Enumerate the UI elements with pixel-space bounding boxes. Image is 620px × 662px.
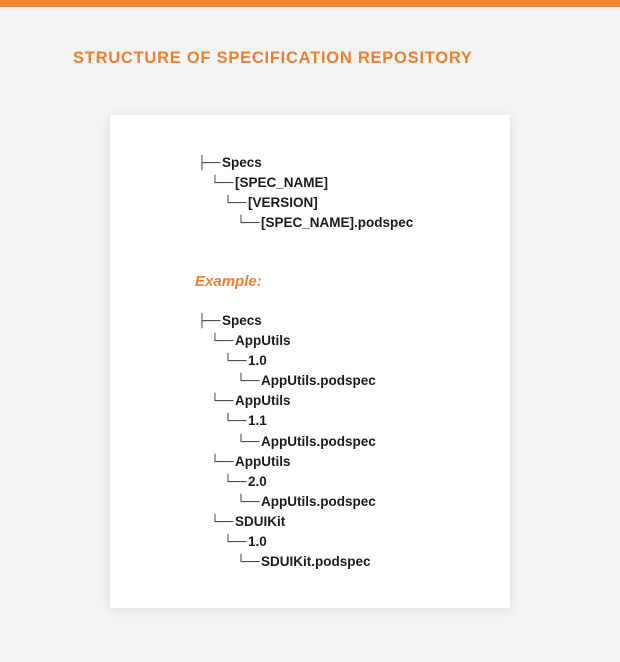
tree-node-label: AppUtils.podspec xyxy=(261,492,376,512)
tree-connector-icon: └── xyxy=(211,392,233,412)
tree-node-label: AppUtils.podspec xyxy=(261,371,376,391)
tree-node-label: Specs xyxy=(222,153,262,173)
tree-row: └──AppUtils xyxy=(198,452,598,472)
tree-connector-icon: └── xyxy=(211,332,233,352)
tree-node-label: Specs xyxy=(222,311,262,331)
tree-connector-icon: └── xyxy=(224,473,246,493)
tree-node-label: 1.0 xyxy=(248,351,267,371)
tree-connector-icon: └── xyxy=(211,513,233,533)
tree-row: └──AppUtils.podspec xyxy=(198,432,598,452)
tree-node-label: AppUtils.podspec xyxy=(261,432,376,452)
example-tree: ├──Specs└──AppUtils└──1.0└──AppUtils.pod… xyxy=(198,311,598,572)
tree-connector-icon: └── xyxy=(237,493,259,513)
tree-node-label: 2.0 xyxy=(248,472,267,492)
tree-row: └──SDUIKit xyxy=(198,512,598,532)
tree-row: └──AppUtils xyxy=(198,331,598,351)
example-label: Example: xyxy=(195,273,262,290)
schema-tree: ├──Specs└──[SPEC_NAME]└──[VERSION]└──[SP… xyxy=(198,153,598,233)
tree-row: └──1.1 xyxy=(198,411,598,431)
tree-node-label: 1.1 xyxy=(248,411,267,431)
tree-node-label: [SPEC_NAME].podspec xyxy=(261,213,413,233)
tree-row: └──2.0 xyxy=(198,472,598,492)
tree-connector-icon: └── xyxy=(224,412,246,432)
tree-row: └──[SPEC_NAME] xyxy=(198,173,598,193)
tree-node-label: 1.0 xyxy=(248,532,267,552)
tree-connector-icon: └── xyxy=(211,453,233,473)
accent-top-bar xyxy=(0,0,620,7)
tree-connector-icon: └── xyxy=(224,194,246,214)
tree-node-label: SDUIKit xyxy=(235,512,285,532)
tree-node-label: AppUtils xyxy=(235,452,291,472)
tree-row: └──[SPEC_NAME].podspec xyxy=(198,213,598,233)
tree-connector-icon: └── xyxy=(237,372,259,392)
page-title: STRUCTURE OF SPECIFICATION REPOSITORY xyxy=(73,49,473,68)
tree-node-label: AppUtils xyxy=(235,331,291,351)
tree-row: ├──Specs xyxy=(198,311,598,331)
tree-connector-icon: ├── xyxy=(198,154,220,174)
tree-row: └──AppUtils xyxy=(198,391,598,411)
tree-row: └──AppUtils.podspec xyxy=(198,492,598,512)
tree-row: └──SDUIKit.podspec xyxy=(198,552,598,572)
tree-row: └──AppUtils.podspec xyxy=(198,371,598,391)
tree-node-label: [SPEC_NAME] xyxy=(235,173,328,193)
tree-connector-icon: └── xyxy=(224,533,246,553)
tree-connector-icon: ├── xyxy=(198,312,220,332)
tree-node-label: [VERSION] xyxy=(248,193,318,213)
tree-connector-icon: └── xyxy=(211,174,233,194)
tree-connector-icon: └── xyxy=(237,433,259,453)
tree-row: └──1.0 xyxy=(198,351,598,371)
tree-connector-icon: └── xyxy=(224,352,246,372)
tree-row: ├──Specs xyxy=(198,153,598,173)
tree-row: └──[VERSION] xyxy=(198,193,598,213)
tree-row: └──1.0 xyxy=(198,532,598,552)
tree-connector-icon: └── xyxy=(237,214,259,234)
tree-connector-icon: └── xyxy=(237,553,259,573)
tree-node-label: AppUtils xyxy=(235,391,291,411)
content-card: ├──Specs└──[SPEC_NAME]└──[VERSION]└──[SP… xyxy=(110,115,510,608)
tree-node-label: SDUIKit.podspec xyxy=(261,552,371,572)
